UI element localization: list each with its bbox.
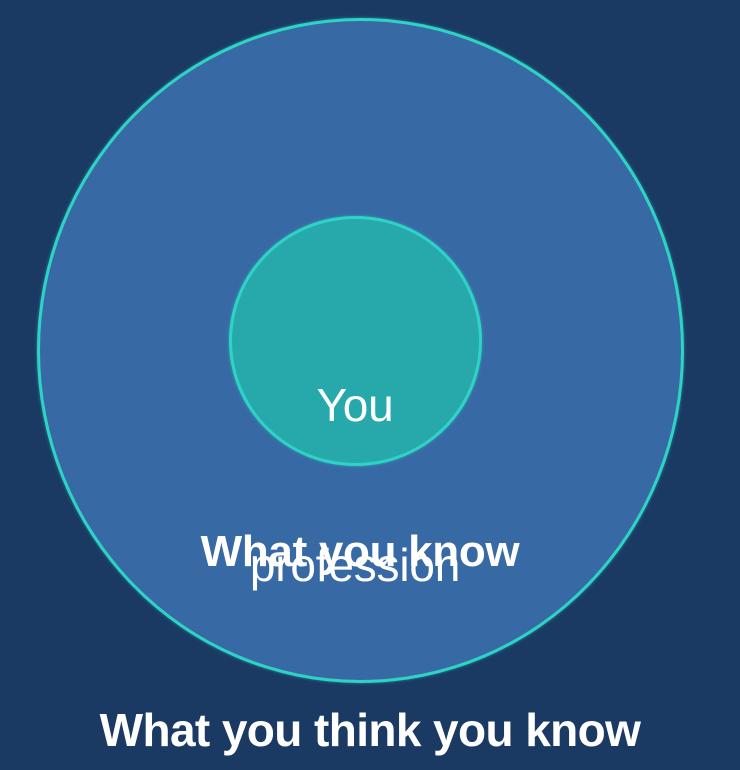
inner-circle-label: You profession bbox=[180, 272, 530, 699]
middle-circle-label: What you know bbox=[70, 528, 650, 576]
diagram-canvas: You profession What you know What you th… bbox=[0, 0, 740, 770]
outer-field-label: What you think you know bbox=[0, 705, 740, 756]
inner-circle-label-line-1: You bbox=[180, 379, 530, 432]
